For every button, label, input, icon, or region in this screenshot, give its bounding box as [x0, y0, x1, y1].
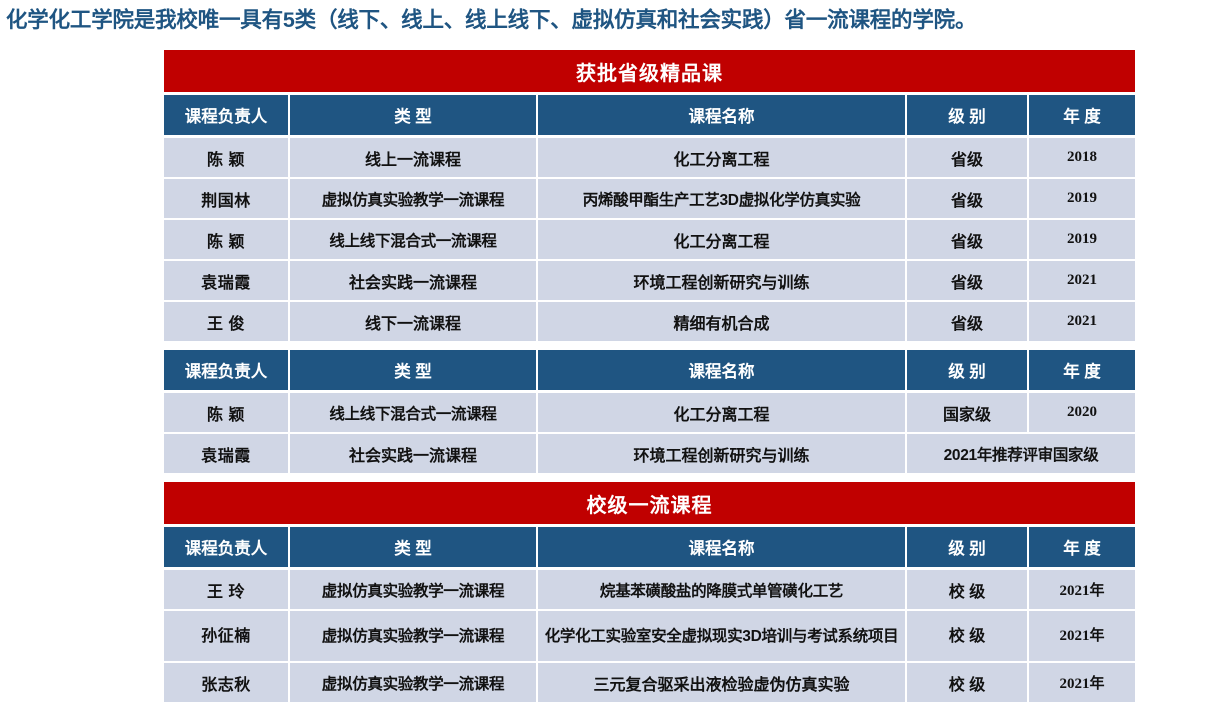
- cell-year: 2021: [1029, 302, 1135, 343]
- section-title-row-school: 校级一流课程: [164, 482, 1135, 527]
- header-type: 类 型: [290, 350, 538, 393]
- header-leader: 课程负责人: [164, 95, 290, 138]
- cell-type: 线上线下混合式一流课程: [290, 393, 538, 434]
- cell-type: 虚拟仿真实验教学一流课程: [290, 663, 538, 704]
- cell-course-name: 化学化工实验室安全虚拟现实3D培训与考试系统项目: [538, 611, 907, 663]
- table-row: 荆国林 虚拟仿真实验教学一流课程 丙烯酸甲酯生产工艺3D虚拟化学仿真实验 省级 …: [164, 179, 1135, 220]
- table-row: 陈 颖 线上线下混合式一流课程 化工分离工程 省级 2019: [164, 220, 1135, 261]
- header-type: 类 型: [290, 95, 538, 138]
- cell-leader: 王 俊: [164, 302, 290, 343]
- cell-course-name: 烷基苯磺酸盐的降膜式单管磺化工艺: [538, 570, 907, 611]
- cell-course-name: 三元复合驱采出液检验虚伪仿真实验: [538, 663, 907, 704]
- cell-type: 虚拟仿真实验教学一流课程: [290, 611, 538, 663]
- cell-leader: 张志秋: [164, 663, 290, 704]
- cell-year: 2018: [1029, 138, 1135, 179]
- cell-year: 2021年: [1029, 570, 1135, 611]
- cell-level: 校 级: [907, 570, 1029, 611]
- header-year: 年 度: [1029, 350, 1135, 393]
- cell-type: 社会实践一流课程: [290, 434, 538, 475]
- column-header-row-1: 课程负责人 类 型 课程名称 级 别 年 度: [164, 95, 1135, 138]
- course-table: 获批省级精品课 课程负责人 类 型 课程名称 级 别 年 度 陈 颖 线上一流课…: [164, 50, 1135, 704]
- table-row: 袁瑞霞 社会实践一流课程 环境工程创新研究与训练 2021年推荐评审国家级: [164, 434, 1135, 475]
- cell-year: 2019: [1029, 179, 1135, 220]
- table-row: 王 玲 虚拟仿真实验教学一流课程 烷基苯磺酸盐的降膜式单管磺化工艺 校 级 20…: [164, 570, 1135, 611]
- cell-level: 国家级: [907, 393, 1029, 434]
- header-year: 年 度: [1029, 527, 1135, 570]
- cell-level: 校 级: [907, 663, 1029, 704]
- course-tables: 获批省级精品课 课程负责人 类 型 课程名称 级 别 年 度 陈 颖 线上一流课…: [164, 50, 1135, 704]
- cell-type: 线下一流课程: [290, 302, 538, 343]
- header-course-name: 课程名称: [538, 527, 907, 570]
- cell-year: 2021年: [1029, 611, 1135, 663]
- table-row: 陈 颖 线上一流课程 化工分离工程 省级 2018: [164, 138, 1135, 179]
- cell-leader: 陈 颖: [164, 220, 290, 261]
- cell-course-name: 丙烯酸甲酯生产工艺3D虚拟化学仿真实验: [538, 179, 907, 220]
- section-gap: [164, 475, 1135, 482]
- header-type: 类 型: [290, 527, 538, 570]
- cell-course-name: 化工分离工程: [538, 138, 907, 179]
- cell-course-name: 化工分离工程: [538, 220, 907, 261]
- cell-level: 校 级: [907, 611, 1029, 663]
- cell-course-name: 环境工程创新研究与训练: [538, 261, 907, 302]
- cell-leader: 荆国林: [164, 179, 290, 220]
- cell-type: 社会实践一流课程: [290, 261, 538, 302]
- section-gap: [164, 343, 1135, 350]
- cell-level: 省级: [907, 261, 1029, 302]
- cell-level: 省级: [907, 179, 1029, 220]
- table-row: 王 俊 线下一流课程 精细有机合成 省级 2021: [164, 302, 1135, 343]
- header-year: 年 度: [1029, 95, 1135, 138]
- cell-leader: 袁瑞霞: [164, 261, 290, 302]
- cell-type: 线上一流课程: [290, 138, 538, 179]
- cell-year: 2021年: [1029, 663, 1135, 704]
- table-row: 袁瑞霞 社会实践一流课程 环境工程创新研究与训练 省级 2021: [164, 261, 1135, 302]
- cell-type: 虚拟仿真实验教学一流课程: [290, 570, 538, 611]
- cell-leader: 王 玲: [164, 570, 290, 611]
- table-row: 张志秋 虚拟仿真实验教学一流课程 三元复合驱采出液检验虚伪仿真实验 校 级 20…: [164, 663, 1135, 704]
- cell-leader: 袁瑞霞: [164, 434, 290, 475]
- header-level: 级 别: [907, 527, 1029, 570]
- section-title-school: 校级一流课程: [164, 482, 1135, 527]
- header-level: 级 别: [907, 95, 1029, 138]
- header-course-name: 课程名称: [538, 350, 907, 393]
- header-level: 级 别: [907, 350, 1029, 393]
- cell-leader: 孙征楠: [164, 611, 290, 663]
- table-row: 陈 颖 线上线下混合式一流课程 化工分离工程 国家级 2020: [164, 393, 1135, 434]
- cell-level-year-merged: 2021年推荐评审国家级: [907, 434, 1135, 475]
- table-row: 孙征楠 虚拟仿真实验教学一流课程 化学化工实验室安全虚拟现实3D培训与考试系统项…: [164, 611, 1135, 663]
- header-leader: 课程负责人: [164, 350, 290, 393]
- header-course-name: 课程名称: [538, 95, 907, 138]
- cell-level: 省级: [907, 302, 1029, 343]
- cell-level: 省级: [907, 220, 1029, 261]
- section-title-row-provincial: 获批省级精品课: [164, 50, 1135, 95]
- cell-year: 2021: [1029, 261, 1135, 302]
- slide-page: 化学化工学院是我校唯一具有5类（线下、线上、线上线下、虚拟仿真和社会实践）省一流…: [0, 0, 1223, 622]
- column-header-row-3: 课程负责人 类 型 课程名称 级 别 年 度: [164, 527, 1135, 570]
- cell-leader: 陈 颖: [164, 393, 290, 434]
- cell-year: 2020: [1029, 393, 1135, 434]
- cell-leader: 陈 颖: [164, 138, 290, 179]
- cell-course-name: 精细有机合成: [538, 302, 907, 343]
- section-title-provincial: 获批省级精品课: [164, 50, 1135, 95]
- page-title: 化学化工学院是我校唯一具有5类（线下、线上、线上线下、虚拟仿真和社会实践）省一流…: [6, 3, 1221, 37]
- column-header-row-2: 课程负责人 类 型 课程名称 级 别 年 度: [164, 350, 1135, 393]
- cell-type: 虚拟仿真实验教学一流课程: [290, 179, 538, 220]
- cell-level: 省级: [907, 138, 1029, 179]
- cell-type: 线上线下混合式一流课程: [290, 220, 538, 261]
- header-leader: 课程负责人: [164, 527, 290, 570]
- cell-course-name: 环境工程创新研究与训练: [538, 434, 907, 475]
- cell-year: 2019: [1029, 220, 1135, 261]
- cell-course-name: 化工分离工程: [538, 393, 907, 434]
